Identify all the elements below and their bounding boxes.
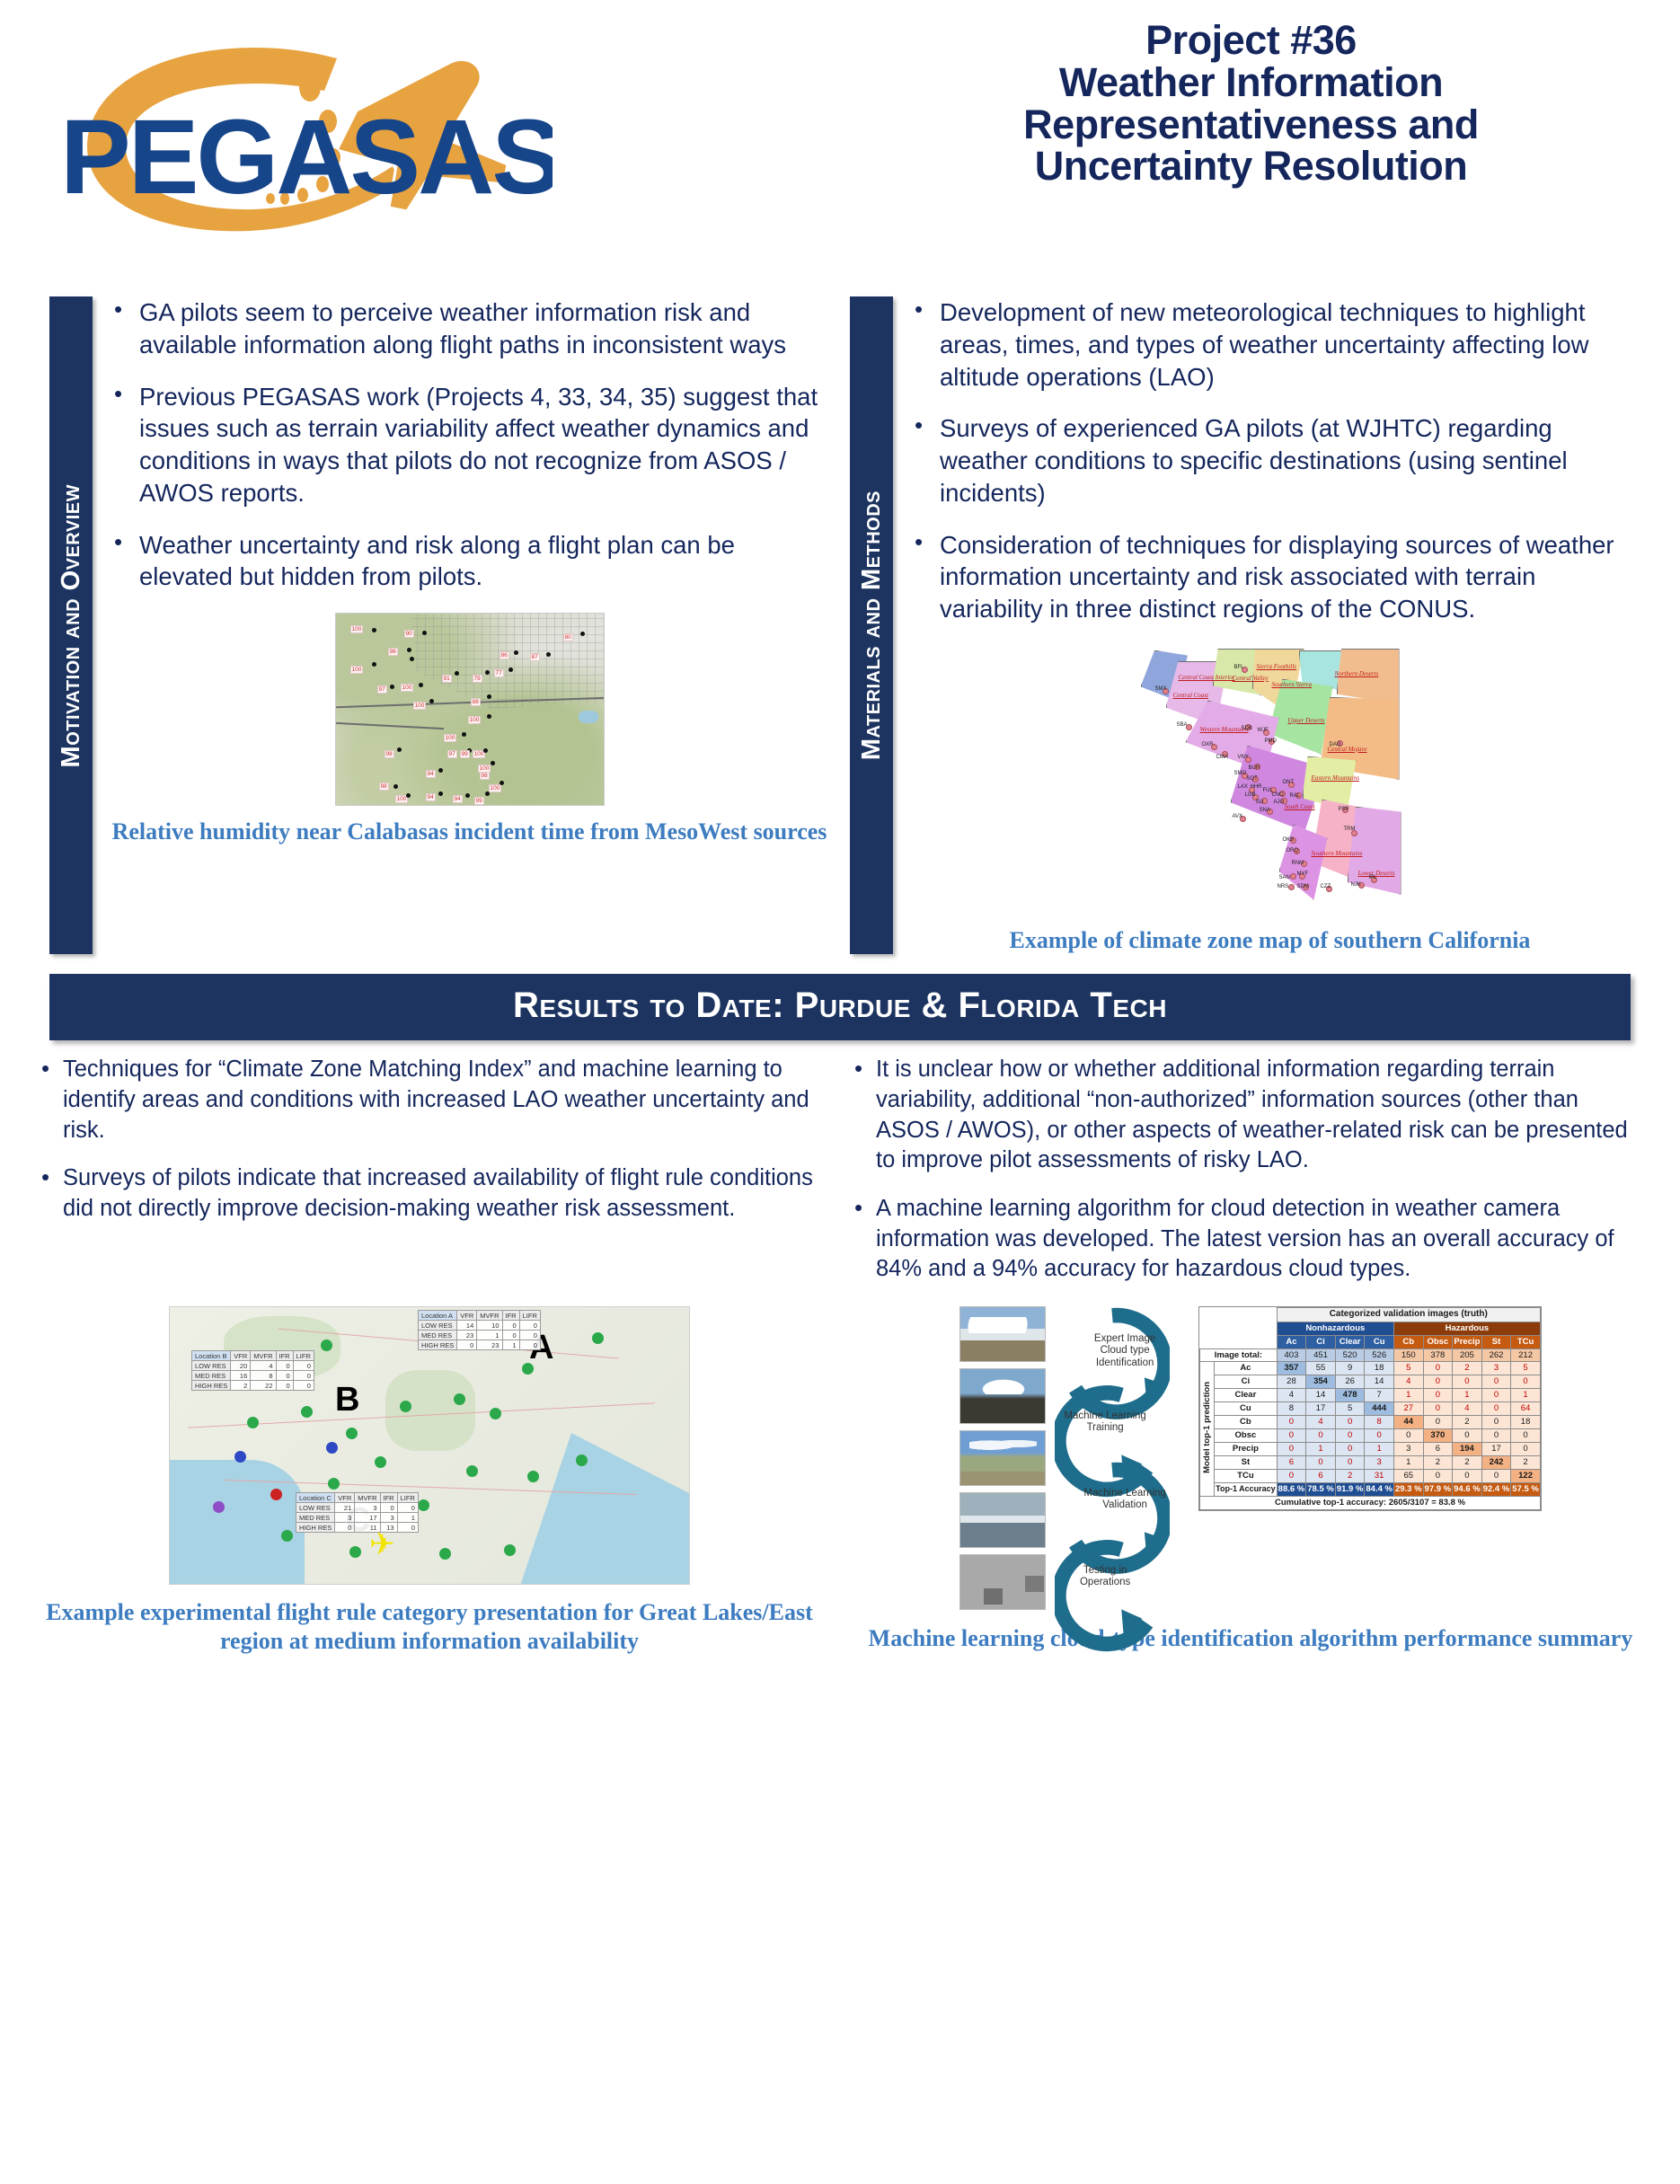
atlantic-ocean: [520, 1433, 690, 1585]
table-header: VFR: [457, 1311, 477, 1321]
table-header: MVFR: [251, 1351, 276, 1361]
cumulus-photo: [959, 1306, 1046, 1362]
station-code: NRS: [1278, 884, 1289, 889]
table-header: LIFR: [397, 1493, 418, 1503]
list-item: Previous PEGASAS work (Projects 4, 33, 3…: [109, 381, 830, 509]
table-row: LOW RES 20 4 0 0: [192, 1361, 314, 1371]
results-sections: Techniques for “Climate Zone Matching In…: [0, 1055, 1680, 1303]
station-code: PSP: [1339, 807, 1349, 812]
climate-zone-figure-caption: Example of climate zone map of southern …: [909, 926, 1631, 955]
results-right-bullet-list: It is unclear how or whether additional …: [849, 1055, 1644, 1285]
list-item: Surveys of experienced GA pilots (at WJH…: [909, 412, 1631, 508]
table-row: MED RES 16 8 0 0: [192, 1371, 314, 1381]
marker-dot-blue: [234, 1451, 246, 1463]
results-left-bullet-list: Techniques for “Climate Zone Matching In…: [36, 1055, 831, 1224]
section-methods: Materials and Methods Development of new…: [850, 296, 1631, 954]
cumulonimbus-photo: [959, 1368, 1046, 1424]
methods-bullet-list: Development of new meteorological techni…: [909, 296, 1631, 625]
station-code: VNY: [1238, 755, 1249, 760]
forest-area: [385, 1370, 475, 1451]
list-item: Development of new meteorological techni…: [909, 296, 1631, 393]
weather-camera-photos: [959, 1306, 1046, 1610]
station-code: PMD: [1265, 738, 1277, 744]
column-header: TCu: [1511, 1335, 1541, 1348]
location-c-table: Location C VFR MVFR IFR LIFR LOW RES 21 …: [296, 1492, 419, 1533]
table-row: Cumulative top-1 accuracy: 2605/3107 = 8…: [1200, 1497, 1541, 1510]
results-right-column: It is unclear how or whether additional …: [849, 1055, 1644, 1303]
cycle-step-2-label: Machine Learning Training: [1062, 1410, 1148, 1435]
zone-label: Central Coast: [1173, 692, 1208, 699]
motivation-content: GA pilots seem to perceive weather infor…: [93, 296, 830, 954]
image-total-label: Image total:: [1200, 1348, 1278, 1362]
great-lakes-flight-rule-map: A B C ✈ Location A VFR MVFR IFR LIFR LOW…: [169, 1306, 690, 1585]
station-code: OXR: [1202, 742, 1214, 747]
results-left-column: Techniques for “Climate Zone Matching In…: [36, 1055, 831, 1303]
station-code: WJF: [1258, 728, 1269, 733]
table-row: Top-1 Accuracy 88.6 % 78.5 % 91.9 % 84.4…: [1200, 1483, 1541, 1497]
cycle-step-3-label: Machine Learning Validation: [1082, 1488, 1168, 1512]
obscured-photo: [959, 1554, 1046, 1610]
row-label: TCu: [1215, 1470, 1278, 1483]
great-lakes-figure-caption: Example experimental flight rule categor…: [22, 1598, 836, 1656]
station-code: BUR: [1249, 765, 1260, 771]
table-header: IFR: [276, 1351, 293, 1361]
pegasas-wordmark: PEGASAS: [60, 98, 553, 217]
station-code: AVX: [1233, 814, 1243, 819]
table-row: LOW RES 21 3 0 0: [296, 1503, 419, 1513]
column-header: Precip: [1453, 1335, 1482, 1348]
station-code: SMX: [1155, 686, 1167, 692]
zone-label: Southern Sierra: [1272, 681, 1313, 688]
row-label: Obsc: [1215, 1429, 1278, 1443]
matrix-title: Categorized validation images (truth): [1277, 1308, 1540, 1322]
motivation-band-label: Motivation and Overview: [57, 484, 86, 767]
station-code: SMO: [1234, 771, 1247, 776]
table-row: MED RES 3 17 3 1: [296, 1513, 419, 1523]
station-code: AJO: [1274, 800, 1285, 805]
station-code: HHR: [1251, 784, 1262, 790]
motivation-band: Motivation and Overview: [49, 296, 93, 954]
row-label: Ac: [1215, 1362, 1278, 1375]
zone-label: Northern Deserts: [1335, 670, 1379, 677]
station-code: SBA: [1177, 722, 1188, 728]
group-header-hazardous: Hazardous: [1393, 1322, 1540, 1335]
humidity-figure-caption: Relative humidity near Calabasas inciden…: [109, 818, 830, 846]
marker-dot-red: [270, 1489, 282, 1500]
station-code: CZZ: [1321, 884, 1331, 889]
table-row: HIGH RES 0 11 13 0: [296, 1523, 419, 1533]
table-header: MVFR: [355, 1493, 380, 1503]
title-line-1: Project #36: [1145, 20, 1357, 62]
pegasas-logo: PEGASAS: [0, 0, 840, 296]
row-label: St: [1215, 1456, 1278, 1470]
list-item: It is unclear how or whether additional …: [849, 1055, 1644, 1176]
table-row: LOW RES 14 10 0 0: [419, 1321, 541, 1331]
zone-label: South Coast: [1285, 803, 1315, 810]
column-header: Cb: [1393, 1335, 1423, 1348]
table-header: Location B: [192, 1351, 231, 1361]
section-motivation: Motivation and Overview GA pilots seem t…: [49, 296, 830, 954]
station-code: LAX: [1238, 784, 1248, 790]
relative-humidity-map: 100 90 98 80 100 86 87 91 79 77 97 100 1…: [335, 613, 605, 806]
table-header: IFR: [502, 1311, 519, 1321]
location-b-table: Location B VFR MVFR IFR LIFR LOW RES 20 …: [191, 1350, 314, 1391]
cumulative-accuracy: Cumulative top-1 accuracy: 2605/3107 = 8…: [1200, 1497, 1541, 1510]
table-row: HIGH RES 0 23 1 0: [419, 1340, 541, 1350]
zone-label: Southern Mountains: [1312, 850, 1363, 857]
table-row: Cu 8 17 5 444 27 0 4 0 64: [1200, 1402, 1541, 1416]
ml-figure-caption: Machine learning cloud-type identificati…: [844, 1624, 1658, 1653]
circular-arrow-icon: [1055, 1538, 1170, 1653]
table-header: LIFR: [293, 1351, 314, 1361]
zone-label: Central Coast Interior: [1179, 674, 1235, 681]
accuracy-row-label: Top-1 Accuracy: [1215, 1483, 1278, 1497]
table-header: Location A: [419, 1311, 457, 1321]
table-header: VFR: [231, 1351, 251, 1361]
group-header-nonhazardous: Nonhazardous: [1277, 1322, 1393, 1335]
station-code: SNA: [1260, 808, 1270, 813]
humidity-figure: 100 90 98 80 100 86 87 91 79 77 97 100 1…: [109, 613, 830, 846]
row-label: Precip: [1215, 1443, 1278, 1456]
upper-sections: Motivation and Overview GA pilots seem t…: [0, 296, 1680, 954]
results-banner: Results to Date: Purdue & Florida Tech: [49, 974, 1631, 1040]
list-item: GA pilots seem to perceive weather infor…: [109, 296, 830, 361]
column-header: St: [1481, 1335, 1511, 1348]
row-axis-label: Model top-1 prediction: [1200, 1362, 1215, 1497]
table-row: Obsc 0 0 0 0 0 370 0 0 0: [1200, 1429, 1541, 1443]
table-header: Location C: [296, 1493, 335, 1503]
location-a-table: Location A VFR MVFR IFR LIFR LOW RES 14 …: [418, 1310, 541, 1350]
list-item: Techniques for “Climate Zone Matching In…: [36, 1055, 831, 1145]
table-header: IFR: [380, 1493, 397, 1503]
ml-workflow-cycle: Expert Image Cloud type Identification M…: [1055, 1306, 1189, 1615]
stratus-photo: [959, 1492, 1046, 1548]
table-row: Ci 28 354 26 14 4 0 0 0 0: [1200, 1375, 1541, 1389]
row-label: Clear: [1215, 1389, 1278, 1402]
table-row: Cb 0 4 0 8 44 0 2 0 18: [1200, 1416, 1541, 1429]
cycle-step-4: Testing in Operations: [1055, 1538, 1170, 1631]
results-banner-label: Results to Date: Purdue & Florida Tech: [49, 986, 1631, 1026]
methods-content: Development of new meteorological techni…: [893, 296, 1631, 954]
marker-dot-purple: [213, 1501, 225, 1513]
station-code: ONT: [1283, 780, 1295, 785]
bottom-figures: A B C ✈ Location A VFR MVFR IFR LIFR LOW…: [0, 1306, 1680, 1656]
table-row: MED RES 23 1 0 0: [419, 1331, 541, 1340]
column-header: Cu: [1365, 1335, 1394, 1348]
title-line-2: Weather Information: [1059, 62, 1443, 104]
clear-sky-photo: [959, 1430, 1046, 1486]
ml-performance-figure: Expert Image Cloud type Identification M…: [844, 1306, 1658, 1656]
highway-126: [336, 722, 444, 729]
station-code: DAG: [1330, 742, 1341, 747]
table-header: MVFR: [477, 1311, 502, 1321]
table-row: St 6 0 0 3 1 2 2 242 2: [1200, 1456, 1541, 1470]
marker-dot-blue: [326, 1442, 338, 1454]
row-label: Cu: [1215, 1402, 1278, 1416]
station-code: SDM: [1297, 884, 1309, 889]
table-header: LIFR: [519, 1311, 540, 1321]
zone-label: Eastern Mountains: [1312, 774, 1359, 782]
poster-root: PEGASAS Project #36 Weather Information …: [0, 0, 1680, 2184]
confusion-matrix-table: Categorized validation images (truth) No…: [1199, 1307, 1541, 1510]
list-item: Consideration of techniques for displayi…: [909, 529, 1631, 625]
water-body: [170, 1460, 305, 1585]
climate-zone-figure: Sierra Foothills Central Valley Central …: [909, 645, 1631, 955]
motivation-bullet-list: GA pilots seem to perceive weather infor…: [109, 296, 830, 593]
station-code: SAN: [1279, 875, 1290, 880]
table-row: Image total: 403 451 520 526 150 378 205…: [1200, 1348, 1541, 1362]
station-code: MYF: [1297, 871, 1309, 877]
list-item: Weather uncertainty and risk along a fli…: [109, 529, 830, 594]
ml-figure-row: Expert Image Cloud type Identification M…: [844, 1306, 1658, 1615]
confusion-matrix: Categorized validation images (truth) No…: [1198, 1306, 1542, 1511]
row-label: Cb: [1215, 1416, 1278, 1429]
table-header: VFR: [335, 1493, 355, 1503]
station-code: SDB: [1242, 726, 1252, 731]
pegasas-logo-icon: PEGASAS: [40, 31, 553, 238]
list-item: A machine learning algorithm for cloud d…: [849, 1194, 1644, 1285]
station-code: RAL: [1290, 793, 1301, 799]
zone-label: Upper Deserts: [1288, 717, 1325, 724]
methods-band: Materials and Methods: [850, 296, 893, 954]
column-header: Ac: [1277, 1335, 1306, 1348]
table-row: Clear 4 14 478 7 1 0 1 0 1: [1200, 1389, 1541, 1402]
station-code: LGB: [1245, 792, 1256, 798]
station-code: RNM: [1292, 861, 1304, 866]
station-code: SQT: [1247, 776, 1258, 782]
column-header: Obsc: [1423, 1335, 1453, 1348]
station-code: SLI: [1256, 800, 1264, 805]
station-code: CMA: [1216, 755, 1228, 760]
station-code: OKB: [1283, 837, 1295, 843]
poster-title: Project #36 Weather Information Represen…: [840, 0, 1680, 296]
title-line-3: Representativeness and: [1023, 104, 1479, 146]
great-lakes-figure: A B C ✈ Location A VFR MVFR IFR LIFR LOW…: [22, 1306, 836, 1656]
station-code: BFL: [1234, 665, 1244, 670]
climate-zone-map: Sierra Foothills Central Valley Central …: [1136, 645, 1405, 915]
column-header: Clear: [1335, 1335, 1365, 1348]
map-marker-b: B: [335, 1381, 359, 1419]
methods-band-label: Materials and Methods: [857, 491, 887, 760]
street-grid: [336, 614, 604, 805]
title-line-4: Uncertainty Resolution: [1035, 146, 1468, 188]
cycle-step-4-label: Testing in Operations: [1062, 1565, 1148, 1589]
list-item: Surveys of pilots indicate that increase…: [36, 1163, 831, 1224]
zone-label: Central Valley: [1233, 675, 1269, 682]
zone-label: Sierra Foothills: [1257, 663, 1297, 670]
station-code: IPL: [1369, 875, 1377, 880]
row-label: Ci: [1215, 1375, 1278, 1389]
table-row: Model top-1 prediction Ac 357 55 9 18 5 …: [1200, 1362, 1541, 1375]
station-code: TRM: [1344, 827, 1356, 832]
column-header: Ci: [1306, 1335, 1336, 1348]
station-code: NJK: [1351, 882, 1361, 888]
poster-header: PEGASAS Project #36 Weather Information …: [0, 0, 1680, 296]
table-row: Precip 0 1 0 1 3 6 194 17 0: [1200, 1443, 1541, 1456]
table-row: HIGH RES 2 22 0 0: [192, 1381, 314, 1391]
cycle-step-1-label: Expert Image Cloud type Identification: [1082, 1333, 1168, 1369]
station-code: CNO: [1272, 792, 1284, 798]
table-row: TCu 0 6 2 31 65 0 0 0 122: [1200, 1470, 1541, 1483]
station-code: ORQ: [1287, 848, 1299, 853]
results-banner-wrap: Results to Date: Purdue & Florida Tech: [0, 974, 1680, 1040]
